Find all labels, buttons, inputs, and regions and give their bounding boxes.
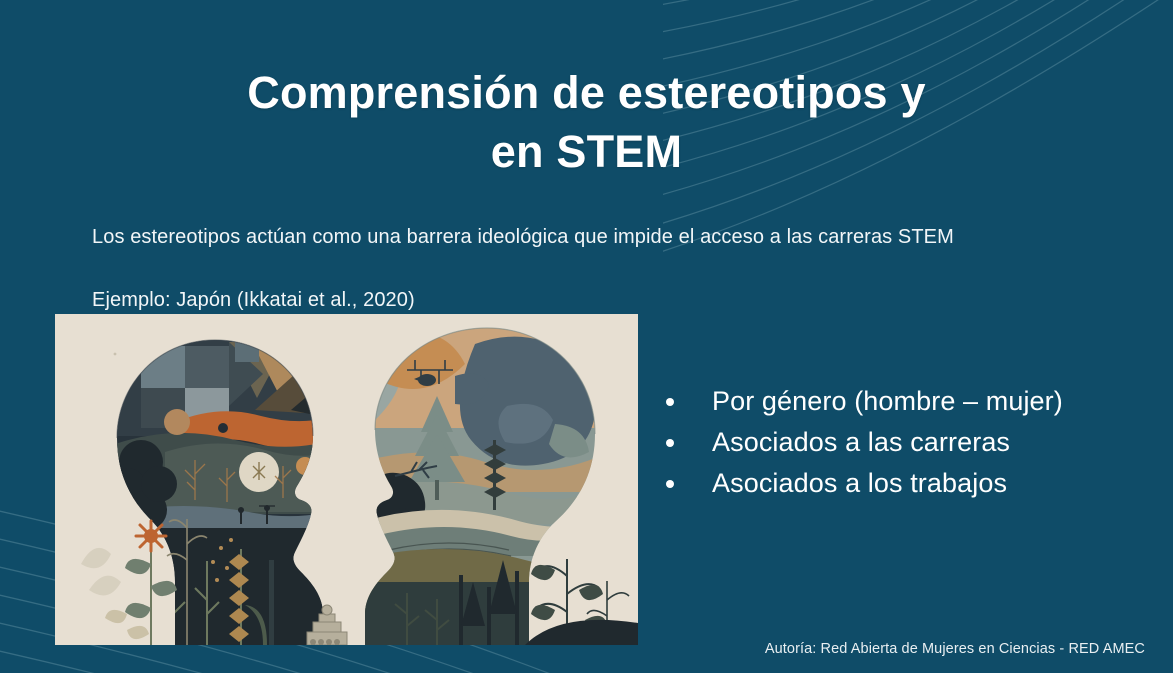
bullet-dot-icon (666, 480, 674, 488)
bullet-item: Asociados a las carreras (662, 422, 1132, 463)
bullet-dot-icon (666, 439, 674, 447)
author-credit: Autoría: Red Abierta de Mujeres en Cienc… (765, 641, 1145, 657)
slide-title: Comprensión de estereotipos y en STEM (0, 64, 1173, 181)
presentation-slide: Comprensión de estereotipos y en STEM Lo… (0, 0, 1173, 673)
example-reference: Ejemplo: Japón (Ikkatai et al., 2020) (92, 287, 415, 313)
bullet-label: Por género (hombre – mujer) (712, 386, 1063, 416)
bullet-list: Por género (hombre – mujer) Asociados a … (662, 381, 1132, 504)
bullet-item: Asociados a los trabajos (662, 463, 1132, 504)
bullet-item: Por género (hombre – mujer) (662, 381, 1132, 422)
bullet-label: Asociados a los trabajos (712, 468, 1007, 498)
illustration-two-heads (55, 314, 638, 645)
bullet-label: Asociados a las carreras (712, 427, 1010, 457)
lead-paragraph: Los estereotipos actúan como una barrera… (92, 224, 954, 250)
bullet-dot-icon (666, 398, 674, 406)
